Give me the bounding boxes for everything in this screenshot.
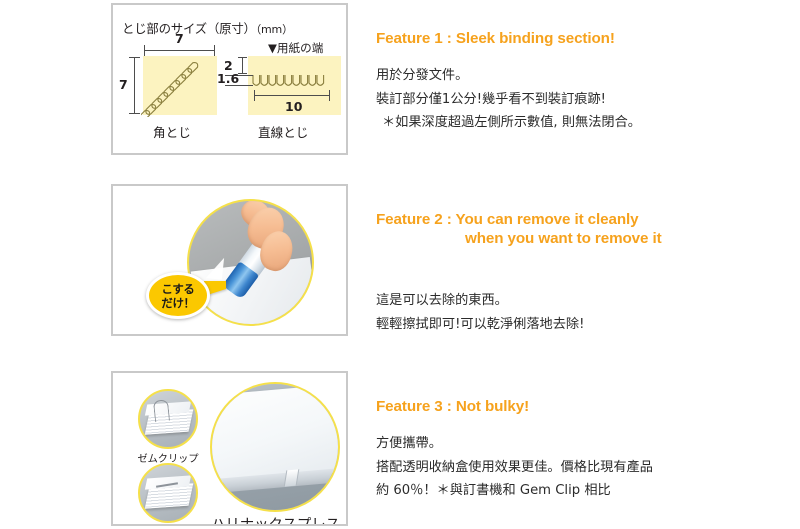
feature-3-title-line1: Feature 3 : Not bulky! bbox=[376, 398, 529, 415]
straight-depth2-tick-top bbox=[238, 57, 247, 58]
straight-width-tick-right bbox=[329, 90, 330, 101]
speech-bubble-line1: こする bbox=[161, 282, 194, 296]
corner-height-dimline bbox=[134, 57, 135, 114]
straight-depth2-dimline bbox=[242, 57, 243, 74]
straight-width-tick-left bbox=[254, 90, 255, 101]
feature-3-body-line-2: 搭配透明收納盒使用效果更佳。價格比現有產品 bbox=[376, 456, 790, 480]
feature-1-body-line-2: 裝訂部分僅1公分!幾乎看不到裝訂痕跡! bbox=[376, 88, 790, 112]
corner-height-tick-bottom bbox=[129, 113, 140, 114]
feature-3-body-line-1: 方便攜帶。 bbox=[376, 432, 790, 456]
harinacs-press-photo bbox=[210, 382, 340, 512]
feature-3-body: 方便攜帶。 搭配透明收納盒使用效果更佳。價格比現有產品 約 60％！＊與訂書機和… bbox=[376, 432, 790, 503]
feature-1-text: Feature 1 : Sleek binding section! 用於分發文… bbox=[376, 10, 790, 135]
feature-row-1: とじ部のサイズ（原寸）（mm） bbox=[0, 0, 800, 160]
diagram-title-unit: （mm） bbox=[256, 23, 293, 36]
feature-2-body-line-1: 這是可以去除的東西。 bbox=[376, 289, 790, 313]
feature-3-body-line-3: 約 60％！＊與訂書機和 Gem Clip 相比 bbox=[376, 479, 790, 503]
diagram-title: とじ部のサイズ（原寸）（mm） bbox=[122, 19, 293, 37]
speech-bubble-line2: だけ！ bbox=[161, 296, 194, 310]
feature-row-2: こする だけ！ Feature 2 : You can remove it cl… bbox=[0, 181, 800, 341]
feature-2-title-line2: when you want to remove it bbox=[376, 229, 790, 248]
feature-2-text: Feature 2 : You can remove it cleanly wh… bbox=[376, 191, 790, 336]
corner-width-dimline bbox=[144, 50, 215, 51]
feature-2-body-line-2: 輕輕擦拭即可!可以乾淨俐落地去除! bbox=[376, 313, 790, 337]
circular-photo-frame bbox=[187, 199, 314, 326]
corner-width-tick-right bbox=[214, 45, 215, 56]
remove-demo-photo: こする だけ！ bbox=[113, 186, 346, 334]
binding-size-diagram: とじ部のサイズ（原寸）（mm） bbox=[113, 5, 346, 153]
binding-size-diagram-panel: とじ部のサイズ（原寸）（mm） bbox=[111, 3, 348, 155]
feature-1-title: Feature 1 : Sleek binding section! bbox=[376, 10, 790, 48]
corner-width-tick-left bbox=[144, 45, 145, 56]
straight-width-dimline bbox=[254, 95, 330, 96]
straight-crimp-pattern bbox=[252, 74, 338, 90]
straight-binding-caption: 直線とじ bbox=[258, 122, 308, 141]
harinacs-press-label: ハリナックスプレス bbox=[203, 513, 348, 526]
stapler-stack-photo bbox=[138, 463, 198, 523]
feature-1-body: 用於分發文件。 裝訂部分僅1公分!幾乎看不到裝訂痕跡! ＊如果深度超過左側所示數… bbox=[376, 64, 790, 135]
corner-crimp-pattern bbox=[141, 55, 219, 117]
corner-binding-caption: 角とじ bbox=[153, 122, 191, 141]
bulk-comparison-photo: ゼムクリップ ステープラー ハリナックスプレス bbox=[113, 373, 346, 524]
paperclip-icon bbox=[153, 399, 170, 422]
corner-height-tick-top bbox=[129, 57, 140, 58]
straight-depth16-label: 1.6 bbox=[217, 73, 239, 86]
paper-edge-label: ▼用紙の端 bbox=[268, 40, 323, 56]
straight-depth2-tick-bottom bbox=[238, 73, 247, 74]
paper-fold bbox=[206, 256, 224, 280]
feature-1-body-line-1: 用於分發文件。 bbox=[376, 64, 790, 88]
straight-width-label: 10 bbox=[285, 101, 302, 114]
feature-3-title: Feature 3 : Not bulky! bbox=[376, 378, 790, 416]
feature-2-title: Feature 2 : You can remove it cleanly wh… bbox=[376, 191, 790, 267]
feature-row-3: ゼムクリップ ステープラー ハリナックスプレス Feature 3 : Not … bbox=[0, 368, 800, 528]
clip-stack-photo bbox=[138, 389, 198, 449]
speech-bubble: こする だけ！ bbox=[146, 272, 210, 319]
remove-photo-panel: こする だけ！ bbox=[111, 184, 348, 336]
feature-2-title-line1: Feature 2 : You can remove it cleanly bbox=[376, 211, 638, 228]
feature-1-body-line-3: ＊如果深度超過左側所示數值, 則無法閉合。 bbox=[376, 111, 790, 135]
bulk-comparison-panel: ゼムクリップ ステープラー ハリナックスプレス bbox=[111, 371, 348, 526]
corner-width-label: 7 bbox=[175, 33, 184, 46]
stapler-label: ステープラー bbox=[125, 524, 211, 526]
corner-height-label: 7 bbox=[119, 79, 128, 92]
diagram-title-main: とじ部のサイズ（原寸） bbox=[122, 21, 256, 36]
feature-1-title-line1: Feature 1 : Sleek binding section! bbox=[376, 30, 615, 47]
feature-3-text: Feature 3 : Not bulky! 方便攜帶。 搭配透明收納盒使用效果… bbox=[376, 378, 790, 503]
feature-2-body: 這是可以去除的東西。 輕輕擦拭即可!可以乾淨俐落地去除! bbox=[376, 289, 790, 336]
